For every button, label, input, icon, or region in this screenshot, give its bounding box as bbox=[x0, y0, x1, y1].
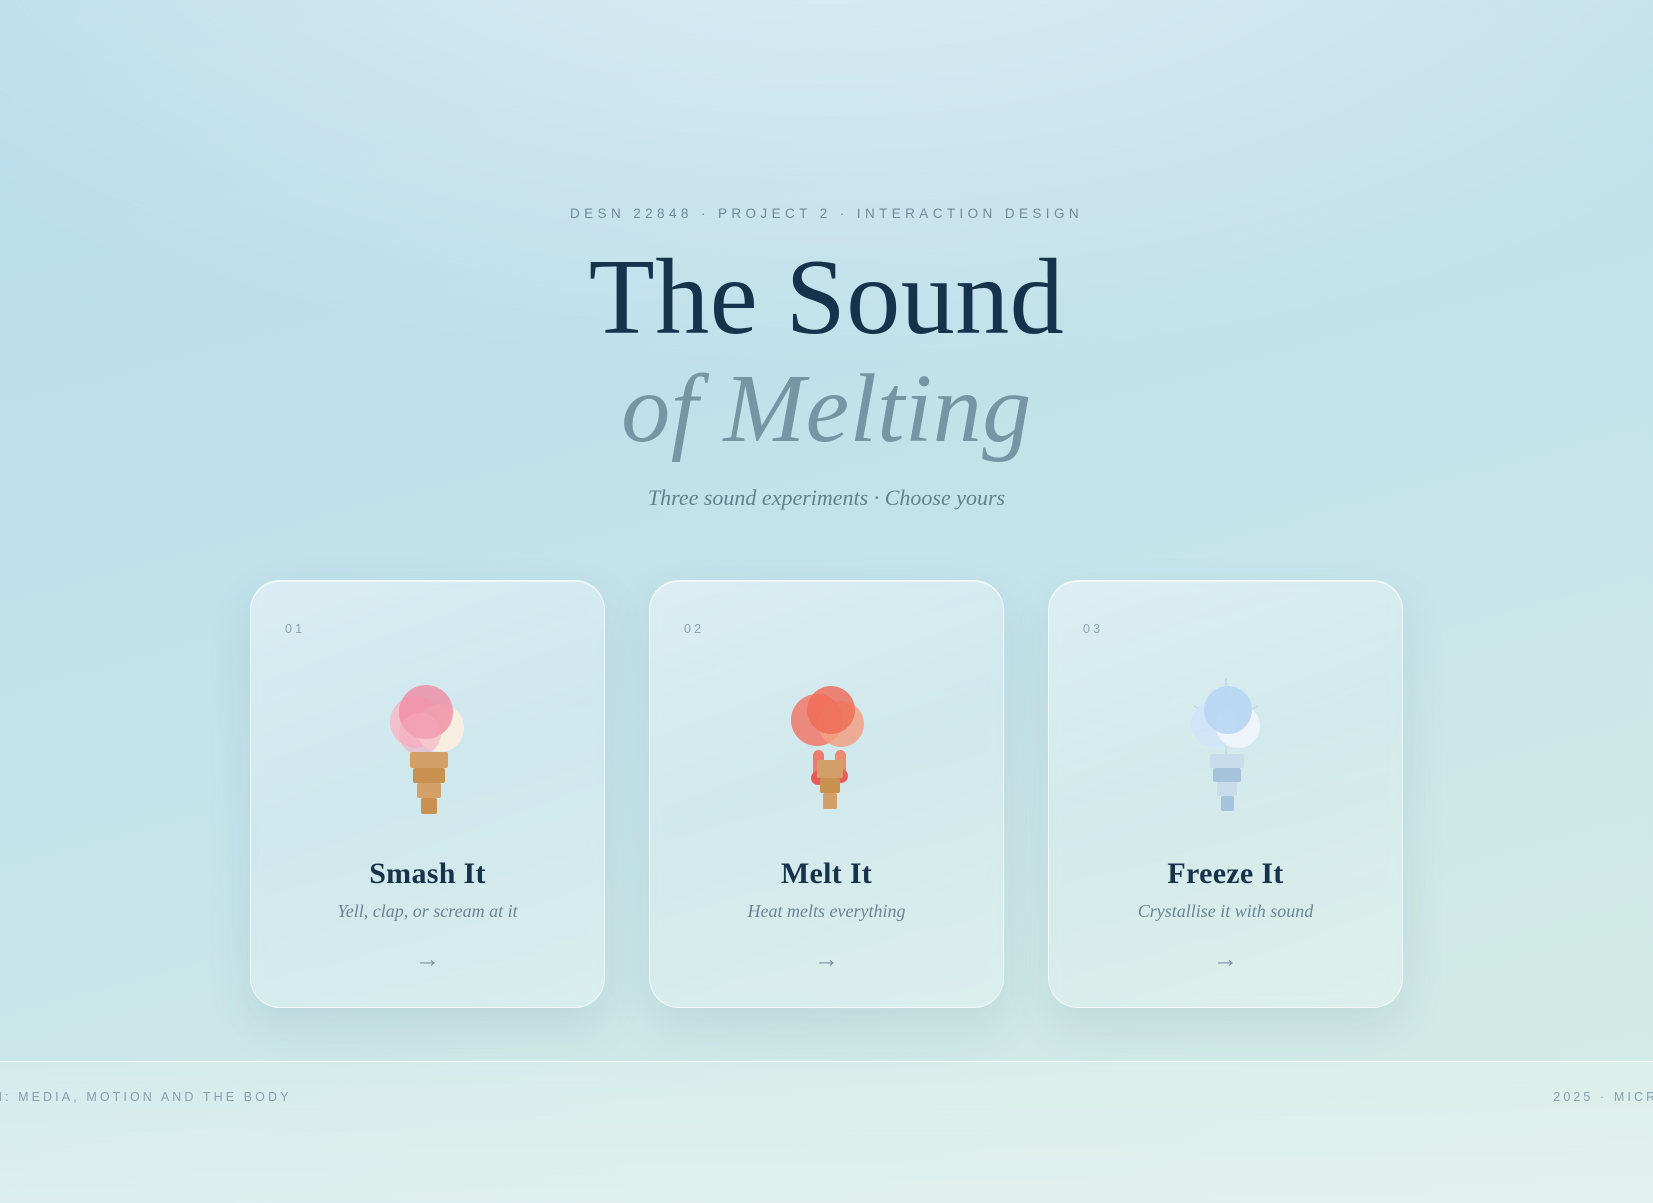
card-subtitle: Yell, clap, or scream at it bbox=[251, 901, 604, 922]
title-line-2: of Melting bbox=[0, 355, 1653, 465]
eyebrow-label: DESN 22848 · PROJECT 2 · INTERACTION DES… bbox=[0, 206, 1653, 221]
card-number: 02 bbox=[684, 622, 704, 636]
page-root: DESN 22848 · PROJECT 2 · INTERACTION DES… bbox=[0, 0, 1653, 1203]
card-title: Melt It bbox=[650, 857, 1003, 891]
page-footer: SIGN: MEDIA, MOTION AND THE BODY 2025 · … bbox=[0, 1061, 1653, 1203]
card-list: 01 Smash It Yell, clap, or scream at it … bbox=[0, 580, 1653, 1008]
footer-course-label: SIGN: MEDIA, MOTION AND THE BODY bbox=[0, 1090, 292, 1104]
ice-cream-pink-icon bbox=[251, 671, 604, 841]
card-subtitle: Heat melts everything bbox=[650, 901, 1003, 922]
experiment-card-melt[interactable]: 02 Melt It Heat melts everything → bbox=[649, 580, 1004, 1008]
arrow-right-icon[interactable]: → bbox=[650, 947, 1003, 972]
ice-cream-melting-icon bbox=[650, 671, 1003, 841]
experiment-card-freeze[interactable]: 03 bbox=[1048, 580, 1403, 1008]
card-title: Smash It bbox=[251, 857, 604, 891]
title-line-1: The Sound bbox=[0, 243, 1653, 353]
ice-cream-frozen-icon bbox=[1049, 671, 1402, 841]
arrow-right-icon[interactable]: → bbox=[1049, 947, 1402, 972]
footer-meta-label: 2025 · MICROPHONE bbox=[1553, 1090, 1653, 1104]
experiment-card-smash[interactable]: 01 Smash It Yell, clap, or scream at it … bbox=[250, 580, 605, 1008]
card-number: 03 bbox=[1083, 622, 1103, 636]
card-title: Freeze It bbox=[1049, 857, 1402, 891]
card-number: 01 bbox=[285, 622, 305, 636]
page-subtitle: Three sound experiments · Choose yours bbox=[0, 485, 1653, 511]
arrow-right-icon[interactable]: → bbox=[251, 947, 604, 972]
page-title: The Sound of Melting bbox=[0, 243, 1653, 465]
card-subtitle: Crystallise it with sound bbox=[1049, 901, 1402, 922]
